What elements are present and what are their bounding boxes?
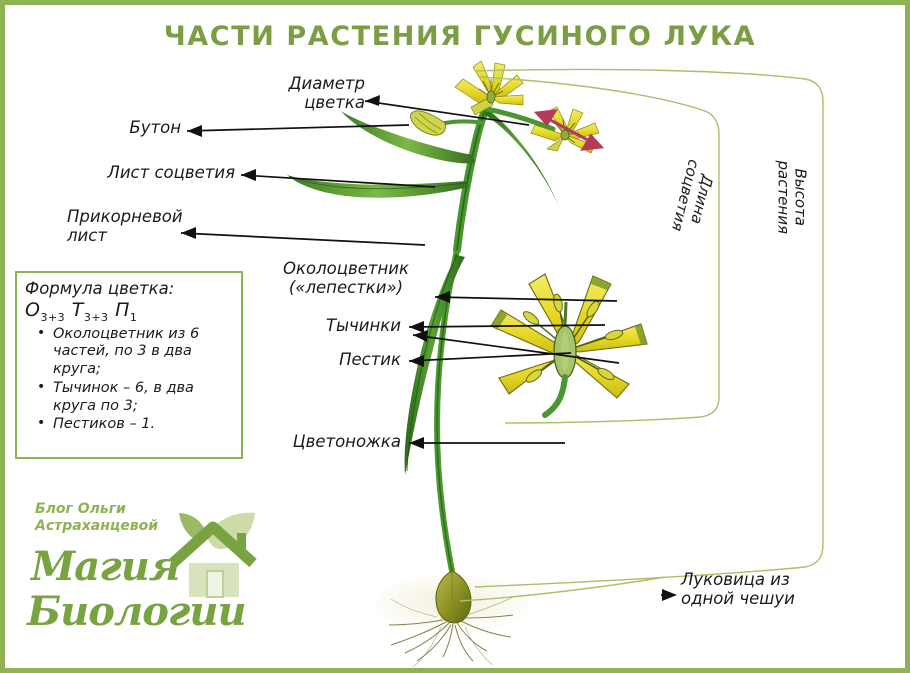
flower-diameter-measure	[537, 111, 601, 149]
label-bud: Бутон	[85, 119, 181, 138]
stem-leaf-right	[485, 109, 561, 211]
logo-subtitle: Блог Ольги Астраханцевой	[35, 501, 158, 535]
flower-closeup	[491, 274, 647, 415]
label-pistil: Пестик	[305, 351, 401, 370]
arrow-bud	[187, 125, 409, 131]
flower-top-center	[455, 61, 523, 115]
bud-branch	[445, 122, 483, 124]
label-perianth: Околоцветник («лепестки»)	[261, 260, 431, 298]
arrow-inflorescence-leaf	[241, 175, 435, 187]
arrow-flower-diameter	[365, 101, 529, 125]
formula-part-stamens: Т3+3	[72, 299, 109, 321]
measurement-brackets	[460, 69, 823, 601]
flower-top-right	[531, 107, 599, 153]
house-leaf-icon	[163, 501, 259, 599]
main-stem	[457, 105, 487, 250]
blog-logo[interactable]: Блог Ольги Астраханцевой Магия Биологии	[13, 493, 261, 641]
bulb-with-roots	[374, 571, 530, 667]
formula-bullet-list: Околоцветник из 6 частей, по 3 в два кру…	[25, 326, 233, 434]
label-pedicel: Цветоножка	[255, 433, 401, 452]
formula-part-perianth: О3+3	[25, 299, 65, 321]
flower-formula-box: Формула цветка: О3+3 Т3+3 П1 Околоцветни…	[15, 271, 243, 459]
label-flower-diameter: Диаметр цветка	[265, 75, 365, 113]
diagram-page: ЧАСТИ РАСТЕНИЯ ГУСИНОГО ЛУКА	[0, 0, 910, 673]
bulb-pointer-bracket	[460, 577, 665, 601]
formula-bullet: Пестиков – 1.	[41, 416, 233, 434]
label-inflorescence-length: Длина соцветия	[662, 135, 725, 260]
plant-height-bracket	[475, 69, 823, 587]
label-plant-height: Высота растения	[774, 137, 809, 257]
arrow-pistil	[409, 353, 571, 361]
formula-title: Формула цветка:	[25, 279, 233, 298]
flower-branch-right	[487, 109, 553, 129]
page-title: ЧАСТИ РАСТЕНИЯ ГУСИНОГО ЛУКА	[5, 21, 910, 52]
arrow-stamens-1	[409, 325, 605, 327]
arrow-perianth	[435, 297, 617, 301]
plant-stem	[437, 250, 457, 571]
formula-expression: О3+3 Т3+3 П1	[25, 299, 233, 324]
flower-bud	[410, 111, 445, 135]
formula-bullet: Околоцветник из 6 частей, по 3 в два кру…	[41, 326, 233, 379]
logo-word-magiya: Магия	[31, 543, 180, 590]
formula-part-pistil: П1	[115, 299, 137, 321]
inflorescence-leaf-left	[287, 175, 469, 198]
label-inflorescence-leaf: Лист соцветия	[61, 164, 235, 183]
formula-bullet: Тычинок – 6, в два круга по 3;	[41, 380, 233, 415]
stem-leaf-left-upper	[341, 111, 475, 163]
label-basal-leaf: Прикорневой лист	[67, 208, 247, 246]
arrow-stamens-2	[413, 335, 619, 363]
label-bulb: Луковица из одной чешуи	[681, 571, 861, 609]
label-stamens: Тычинки	[295, 317, 401, 336]
